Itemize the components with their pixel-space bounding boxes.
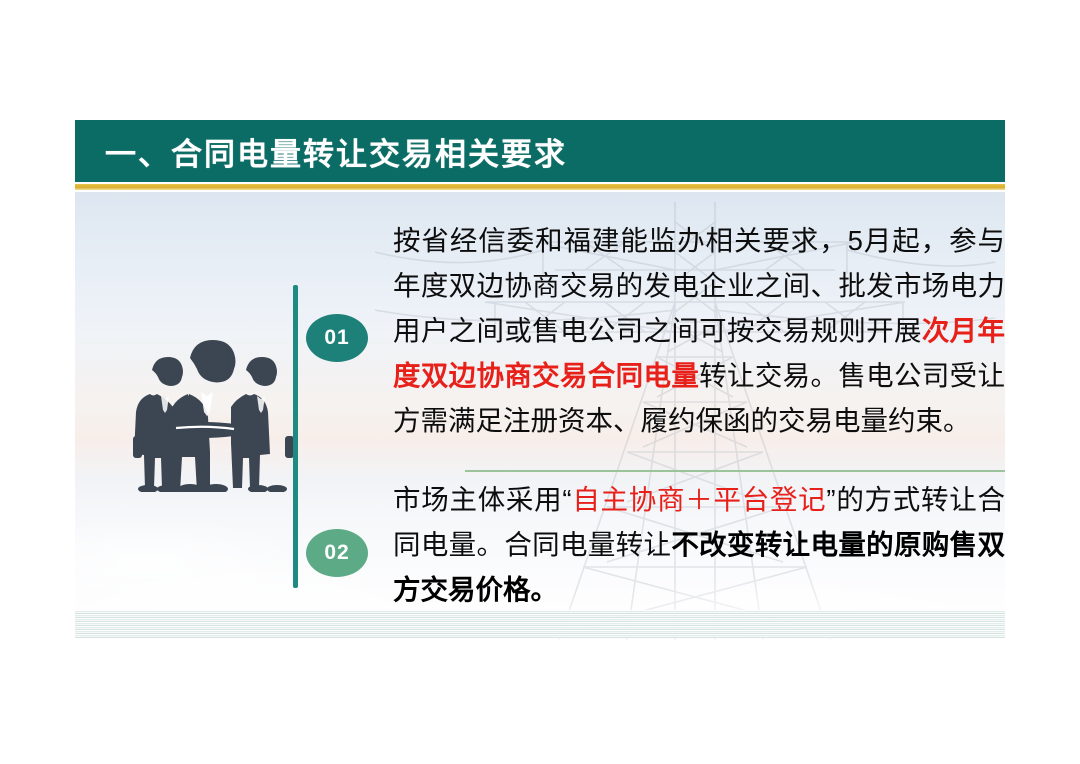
slide-content-frame: 一、合同电量转让交易相关要求 [75, 120, 1005, 640]
vertical-divider [293, 285, 298, 588]
item-badge-02-label: 02 [324, 541, 349, 565]
paragraph-separator-line [465, 470, 1005, 472]
bottom-striped-band [75, 610, 1005, 638]
page-title: 一、合同电量转让交易相关要求 [105, 129, 567, 174]
slide-canvas: 一、合同电量转让交易相关要求 [0, 0, 1080, 764]
item-01-segment-0: 按省经信委和福建能监办相关要求，5月起，参与年度双边协商交易的发电企业之间、批发… [393, 225, 1005, 346]
three-business-people-icon [130, 332, 300, 492]
item-text-02: 市场主体采用“自主协商＋平台登记”的方式转让合同电量。合同电量转让不改变转让电量… [393, 477, 1005, 612]
header-gold-accent-line [75, 184, 1005, 190]
item-badge-02: 02 [306, 529, 368, 577]
section-header-bar: 一、合同电量转让交易相关要求 [75, 120, 1005, 182]
item-02-segment-1-highlight: 自主协商＋平台登记 [572, 484, 827, 515]
item-02-segment-0: 市场主体采用“ [393, 484, 572, 515]
item-text-01: 按省经信委和福建能监办相关要求，5月起，参与年度双边协商交易的发电企业之间、批发… [393, 218, 1005, 443]
item-badge-01: 01 [306, 314, 368, 362]
item-badge-01-label: 01 [324, 326, 349, 350]
